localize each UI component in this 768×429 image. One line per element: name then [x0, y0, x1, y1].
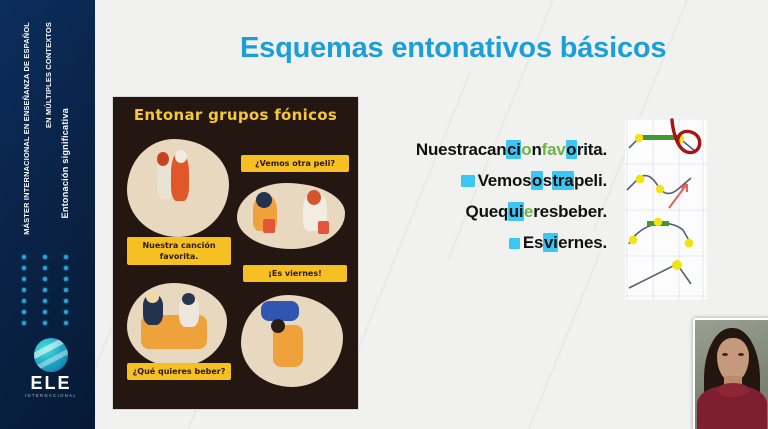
presenter-video[interactable] — [693, 318, 768, 429]
contour-rising-flat — [629, 120, 700, 153]
phrase-segment-plain: resbeber. — [533, 202, 607, 221]
logo-wordmark: ELE — [20, 374, 82, 393]
presenter-eye-right — [738, 353, 744, 356]
ele-logo: ELE INTERNACIONAL — [20, 338, 82, 398]
globe-icon — [34, 338, 68, 372]
dot-grid-decoration — [22, 255, 74, 327]
phrase-que-quieres-beber: Quequieresbeber. — [362, 196, 607, 227]
phrase-segment-highlight: ui — [508, 202, 524, 221]
phrase-segment-plain: n — [531, 140, 541, 159]
phrase-segment-highlight: vi — [543, 233, 558, 252]
phrase-segment-green: o — [521, 140, 531, 159]
program-title-line1: MÁSTER INTERNACIONAL EN ENSEÑANZA DE ESP… — [22, 22, 31, 235]
phrase-segment-plain: Es — [523, 233, 543, 252]
phrase-segment-plain: Vemos — [478, 171, 532, 190]
contour-wave — [627, 175, 691, 208]
phrase-segment-plain: Nuestracan — [416, 140, 507, 159]
figure-lying-top — [261, 301, 299, 321]
figure-movie-b-hair — [307, 190, 321, 205]
phrase-segment-green: fav — [542, 140, 566, 159]
presentation-slide: MÁSTER INTERNACIONAL EN ENSEÑANZA DE ESP… — [0, 0, 768, 429]
intonation-contour-panel — [625, 118, 707, 300]
figure-movie-a-hair — [256, 192, 272, 208]
phrase-segment-highlight: o — [566, 140, 577, 159]
contour-grid — [625, 118, 707, 300]
phrase-list: Nuestracancionfavorita. Vemosostrapeli. … — [362, 134, 607, 258]
phrase-segment-plain: s — [543, 171, 552, 190]
phrase-es-viernes: Esviernes. — [362, 227, 607, 258]
popcorn-b — [318, 221, 329, 234]
contour-rise-fall — [629, 260, 691, 288]
popcorn-a — [263, 219, 275, 233]
page-title: Esquemas entonativos básicos — [240, 32, 666, 65]
phrase-nuestra-cancion-favorita: Nuestracancionfavorita. — [362, 134, 607, 165]
caption-cancion: Nuestra canción favorita. — [127, 237, 231, 265]
figure-sofa-a-hair — [146, 291, 159, 303]
contour-arch — [629, 218, 694, 248]
figure-lying-head — [271, 319, 285, 333]
presenter-eye-left — [722, 353, 728, 356]
phrase-segment-green: e — [524, 202, 533, 221]
contour-svg — [625, 118, 707, 300]
brand-sidebar: MÁSTER INTERNACIONAL EN ENSEÑANZA DE ESP… — [0, 0, 95, 429]
phrase-segment-plain: Queq — [466, 202, 509, 221]
phrase-vemos-otra-peli: Vemosostrapeli. — [362, 165, 607, 196]
program-title-line2: EN MÚLTIPLES CONTEXTOS — [44, 22, 53, 128]
logo-subtitle: INTERNACIONAL — [20, 393, 82, 398]
phrase-leading-block — [461, 175, 475, 187]
unit-title: Entonación significativa — [60, 108, 70, 218]
poster-title: Entonar grupos fónicos — [113, 106, 358, 124]
figure-dancer-b-hair — [175, 150, 187, 163]
phrase-segment-highlight: o — [531, 171, 542, 190]
caption-peli: ¿Vemos otra peli? — [241, 155, 349, 172]
phrase-leading-block — [509, 238, 520, 249]
phrase-segment-plain: rita. — [577, 140, 607, 159]
caption-viernes: ¡Es viernes! — [243, 265, 347, 282]
phrase-segment-plain: ernes. — [558, 233, 607, 252]
phrase-segment-highlight: ci — [506, 140, 521, 159]
poster-image: Entonar grupos fónicos Nuestra canción f… — [112, 96, 359, 410]
phrase-segment-highlight: tra — [552, 171, 574, 190]
caption-beber: ¿Qué quieres beber? — [127, 363, 231, 380]
presenter-collar — [717, 383, 749, 397]
figure-sofa-b-hair — [182, 293, 195, 305]
phrase-segment-plain: peli. — [574, 171, 607, 190]
figure-dancer-a-hair — [157, 152, 169, 166]
